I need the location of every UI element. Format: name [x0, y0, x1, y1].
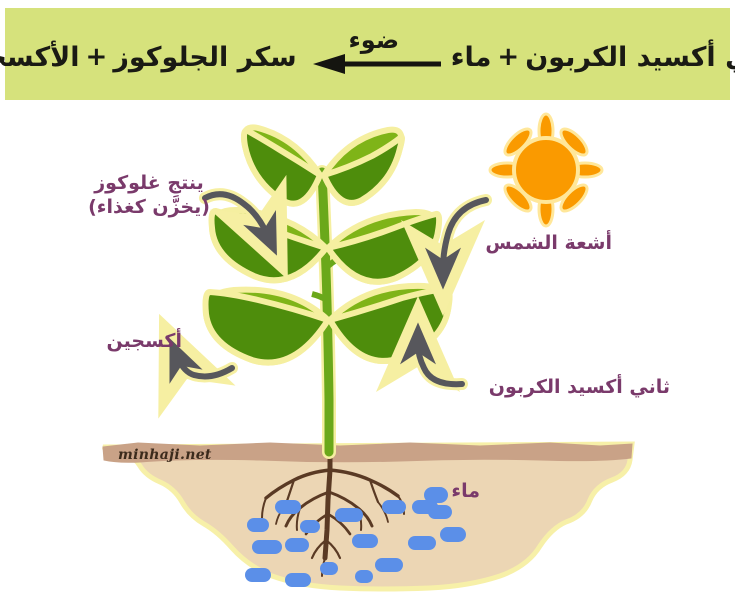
- label-glucose-line1: ينتج غلوكوز: [74, 172, 224, 196]
- sun-icon: [490, 114, 602, 226]
- oxygen-arrow-icon: [178, 358, 232, 376]
- label-glucose: ينتج غلوكوز (يخزَّن كغذاء): [74, 172, 224, 220]
- label-carbon-dioxide: ثاني أكسيد الكربون: [470, 376, 670, 400]
- label-oxygen: أكسجين: [72, 330, 182, 354]
- carbon-dioxide-arrow-icon: [418, 344, 462, 384]
- label-water: ماء: [420, 480, 480, 504]
- photosynthesis-diagram: ثاني أكسيد الكربون + ماء ضوء سكر الجلوكو…: [0, 0, 735, 613]
- label-sunrays: أشعة الشمس: [452, 232, 612, 256]
- scene-graphic: [0, 0, 735, 613]
- label-glucose-line2: (يخزَّن كغذاء): [74, 196, 224, 220]
- watermark: minhaji.net: [118, 447, 212, 463]
